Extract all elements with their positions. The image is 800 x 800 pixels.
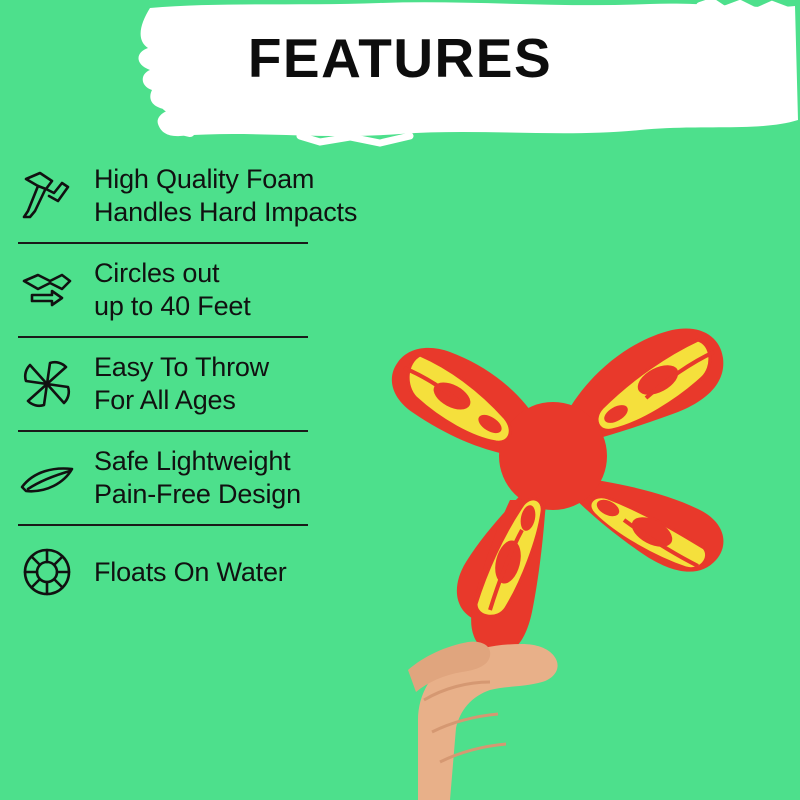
hand [408,642,558,800]
hammer-icon [16,165,78,227]
page-title: FEATURES [0,26,800,90]
features-infographic: FEATURES High Quality Foam Handles Hard … [0,0,800,800]
product-photo [300,200,800,800]
feather-icon [16,447,78,509]
feature-label: Floats On Water [94,556,287,589]
feature-label: Circles out up to 40 Feet [94,257,251,323]
boomerang-return-arrow-icon [16,259,78,321]
feature-label: Safe Lightweight Pain-Free Design [94,445,301,511]
life-ring-icon [16,541,78,603]
feature-label: Easy To Throw For All Ages [94,351,269,417]
throwing-star-icon [16,353,78,415]
